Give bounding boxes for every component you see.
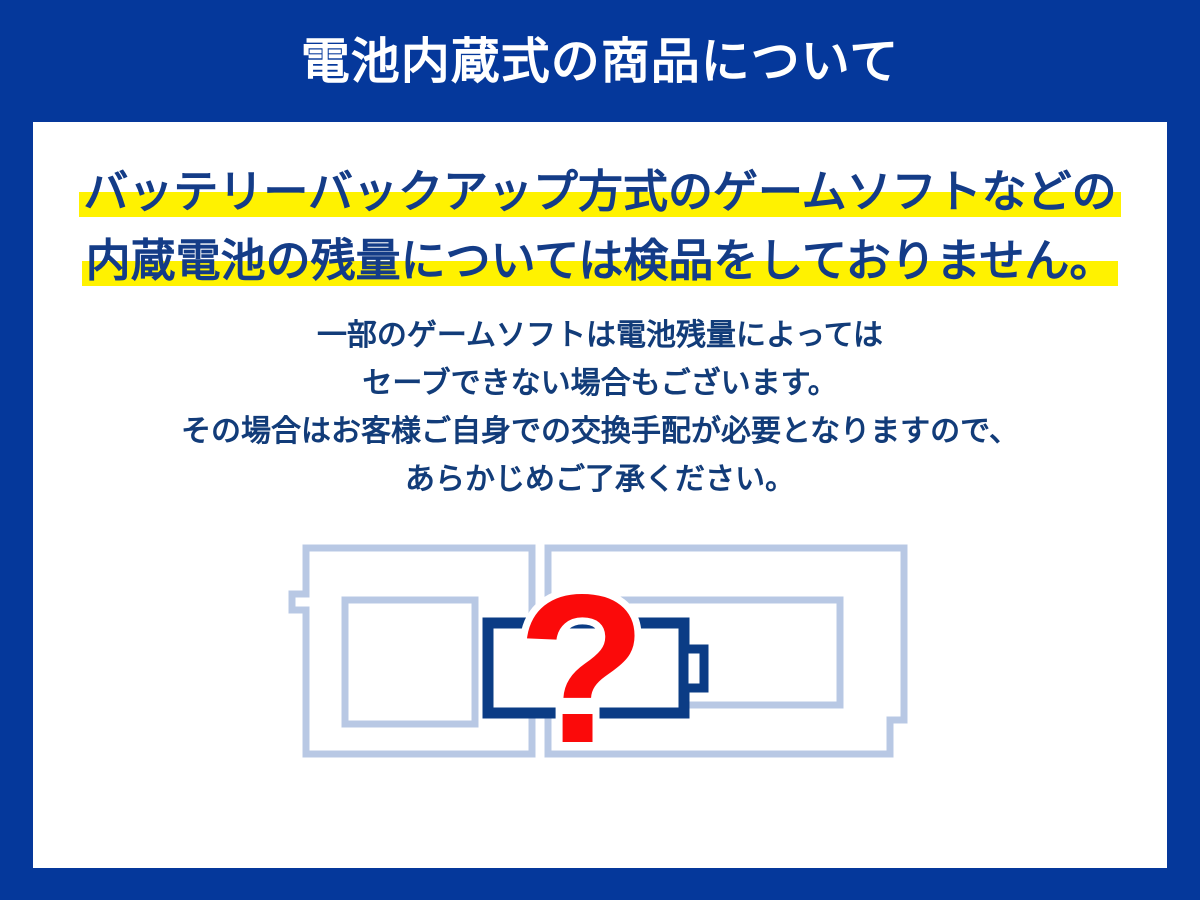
illustration-svg: ?: [280, 542, 920, 782]
body-line-2: セーブできない場合もございます。: [33, 360, 1167, 408]
body-line-4: あらかじめご了承ください。: [33, 456, 1167, 504]
headline-block: バッテリーバックアップ方式のゲームソフトなどの 内蔵電池の残量については検品をし…: [33, 160, 1167, 293]
slide-root: 電池内蔵式の商品について バッテリーバックアップ方式のゲームソフトなどの 内蔵電…: [0, 0, 1200, 900]
body-copy: 一部のゲームソフトは電池残量によっては セーブできない場合もございます。 その場…: [33, 312, 1167, 504]
headline-line-2: 内蔵電池の残量については検品をしておりません。: [86, 229, 1115, 293]
game-cartridge-left-label-icon: [345, 600, 475, 724]
title-bar: 電池内蔵式の商品について: [0, 0, 1200, 122]
body-line-1: 一部のゲームソフトは電池残量によっては: [33, 312, 1167, 360]
page-title: 電池内蔵式の商品について: [301, 38, 900, 87]
content-panel: バッテリーバックアップ方式のゲームソフトなどの 内蔵電池の残量については検品をし…: [33, 122, 1167, 868]
headline-text-1: バッテリーバックアップ方式のゲームソフトなどの: [83, 166, 1116, 217]
illustration: ?: [33, 542, 1167, 802]
battery-terminal-icon: [684, 649, 704, 688]
headline-text-2: 内蔵電池の残量については検品をしておりません。: [86, 235, 1115, 286]
headline-line-1: バッテリーバックアップ方式のゲームソフトなどの: [83, 160, 1116, 224]
question-mark-icon: ?: [517, 550, 647, 782]
body-line-3: その場合はお客様ご自身での交換手配が必要となりますので、: [33, 408, 1167, 456]
